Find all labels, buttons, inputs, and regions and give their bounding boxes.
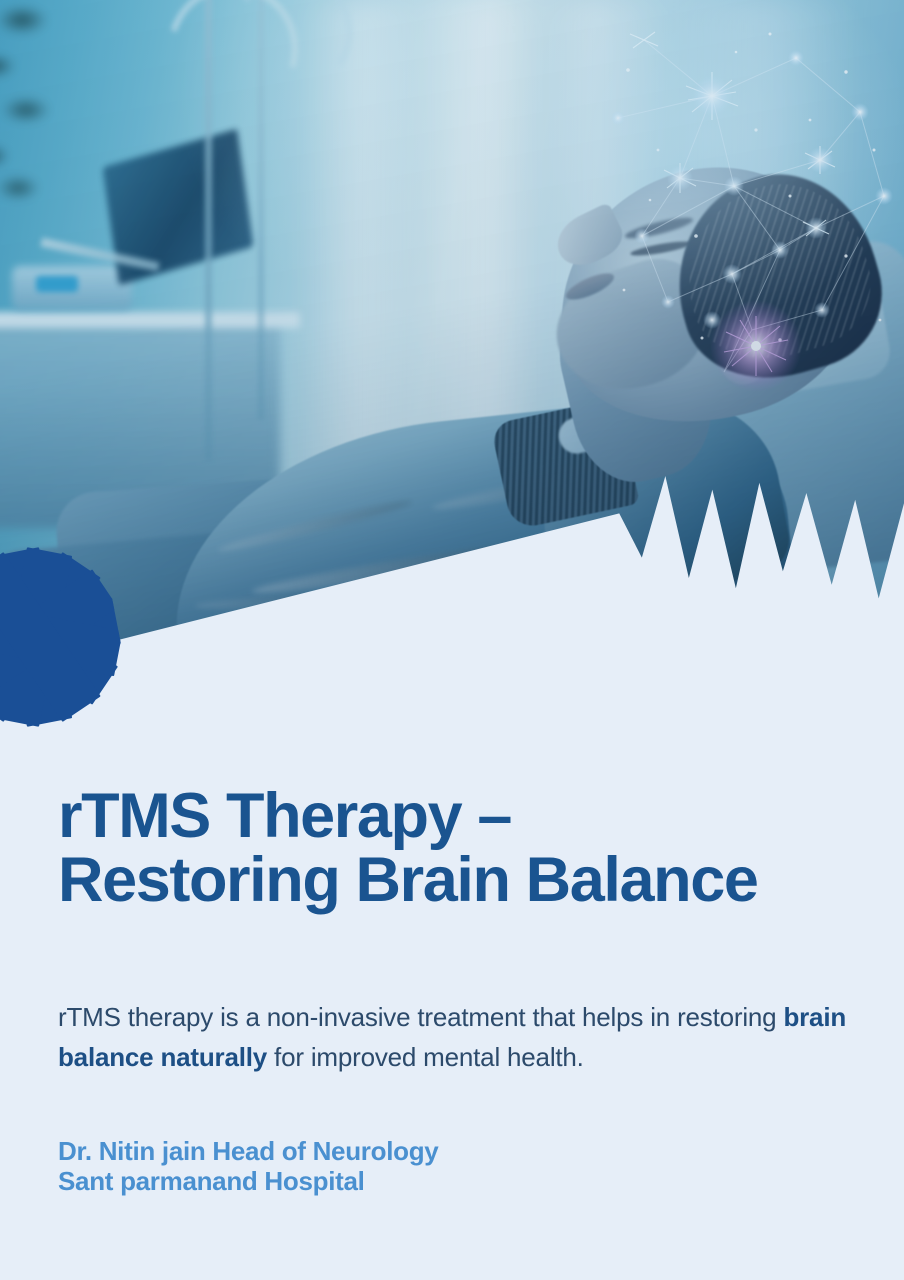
shirt-fold: [300, 589, 579, 636]
attribution-credit: Dr. Nitin jain Head of Neurology Sant pa…: [58, 1136, 904, 1197]
body-paragraph: rTMS therapy is a non-invasive treatment…: [58, 997, 858, 1078]
hero-photo: [0, 0, 904, 680]
poster-root: rTMS Therapy – Restoring Brain Balance r…: [0, 0, 904, 1280]
body-tail: for improved mental health.: [267, 1042, 584, 1072]
page-title: rTMS Therapy – Restoring Brain Balance: [58, 700, 904, 913]
photo-color-tint: [0, 0, 904, 680]
body-lead: rTMS therapy is a non-invasive treatment…: [58, 1002, 783, 1032]
content-panel: rTMS Therapy – Restoring Brain Balance r…: [0, 700, 904, 1196]
